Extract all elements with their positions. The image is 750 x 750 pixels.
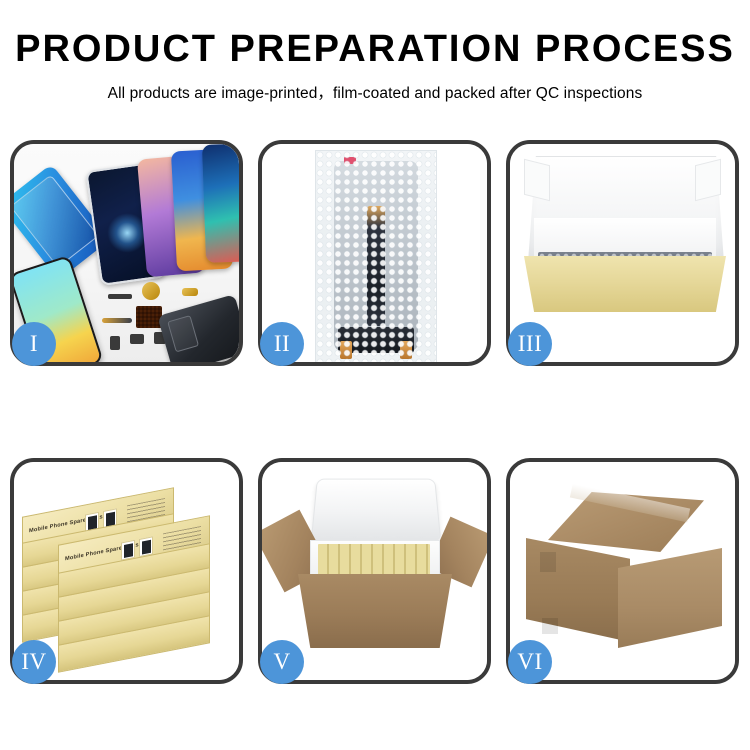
lid-flap-left	[524, 159, 550, 201]
carton-right-face	[618, 548, 722, 648]
phone-back-housing-icon	[157, 294, 239, 362]
header: PRODUCT PREPARATION PROCESS All products…	[0, 0, 750, 103]
teal-phone-display-icon	[202, 144, 239, 263]
step-panel-4: Mobile Phone Spare Parts Mobile Phone Sp…	[10, 458, 243, 684]
logic-board-part	[136, 306, 162, 328]
phone-fan-group	[14, 144, 239, 266]
retail-box-stack-icon: Mobile Phone Spare Parts Mobile Phone Sp…	[22, 476, 236, 672]
carton-handle-notch	[542, 618, 558, 634]
carton-body-icon	[298, 574, 452, 648]
step-badge-3: III	[508, 322, 552, 366]
bubble-wrap-bag-icon	[315, 150, 437, 362]
bubble-texture	[316, 151, 436, 362]
lid-flap-right	[695, 159, 721, 201]
earpiece-mesh-part	[108, 294, 132, 299]
product-preparation-infographic: PRODUCT PREPARATION PROCESS All products…	[0, 0, 750, 750]
step-badge-6: VI	[508, 640, 552, 684]
volume-flex-cable-part	[102, 318, 132, 323]
speaker-module-part	[142, 282, 160, 300]
foam-lid-icon	[311, 479, 441, 541]
process-steps-grid: I II	[10, 140, 740, 696]
page-title: PRODUCT PREPARATION PROCESS	[0, 30, 750, 68]
sim-tray-part	[110, 336, 120, 350]
step-panel-5: V	[258, 458, 491, 684]
step-panel-1: I	[10, 140, 243, 366]
yellow-tray-box-icon	[524, 256, 726, 312]
step-panel-6: VI	[506, 458, 739, 684]
step-badge-2: II	[260, 322, 304, 366]
step-panel-2: II	[258, 140, 491, 366]
vibrator-part	[130, 334, 144, 344]
sealed-carton-icon	[526, 492, 722, 652]
page-subtitle: All products are image-printed，film-coat…	[0, 81, 750, 103]
step-panel-3: III	[506, 140, 739, 366]
spare-parts-group	[84, 274, 239, 362]
camera-flex-part	[182, 288, 198, 296]
step-badge-4: IV	[12, 640, 56, 684]
step-badge-1: I	[12, 322, 56, 366]
carton-handle-notch	[540, 552, 556, 572]
step-badge-5: V	[260, 640, 304, 684]
